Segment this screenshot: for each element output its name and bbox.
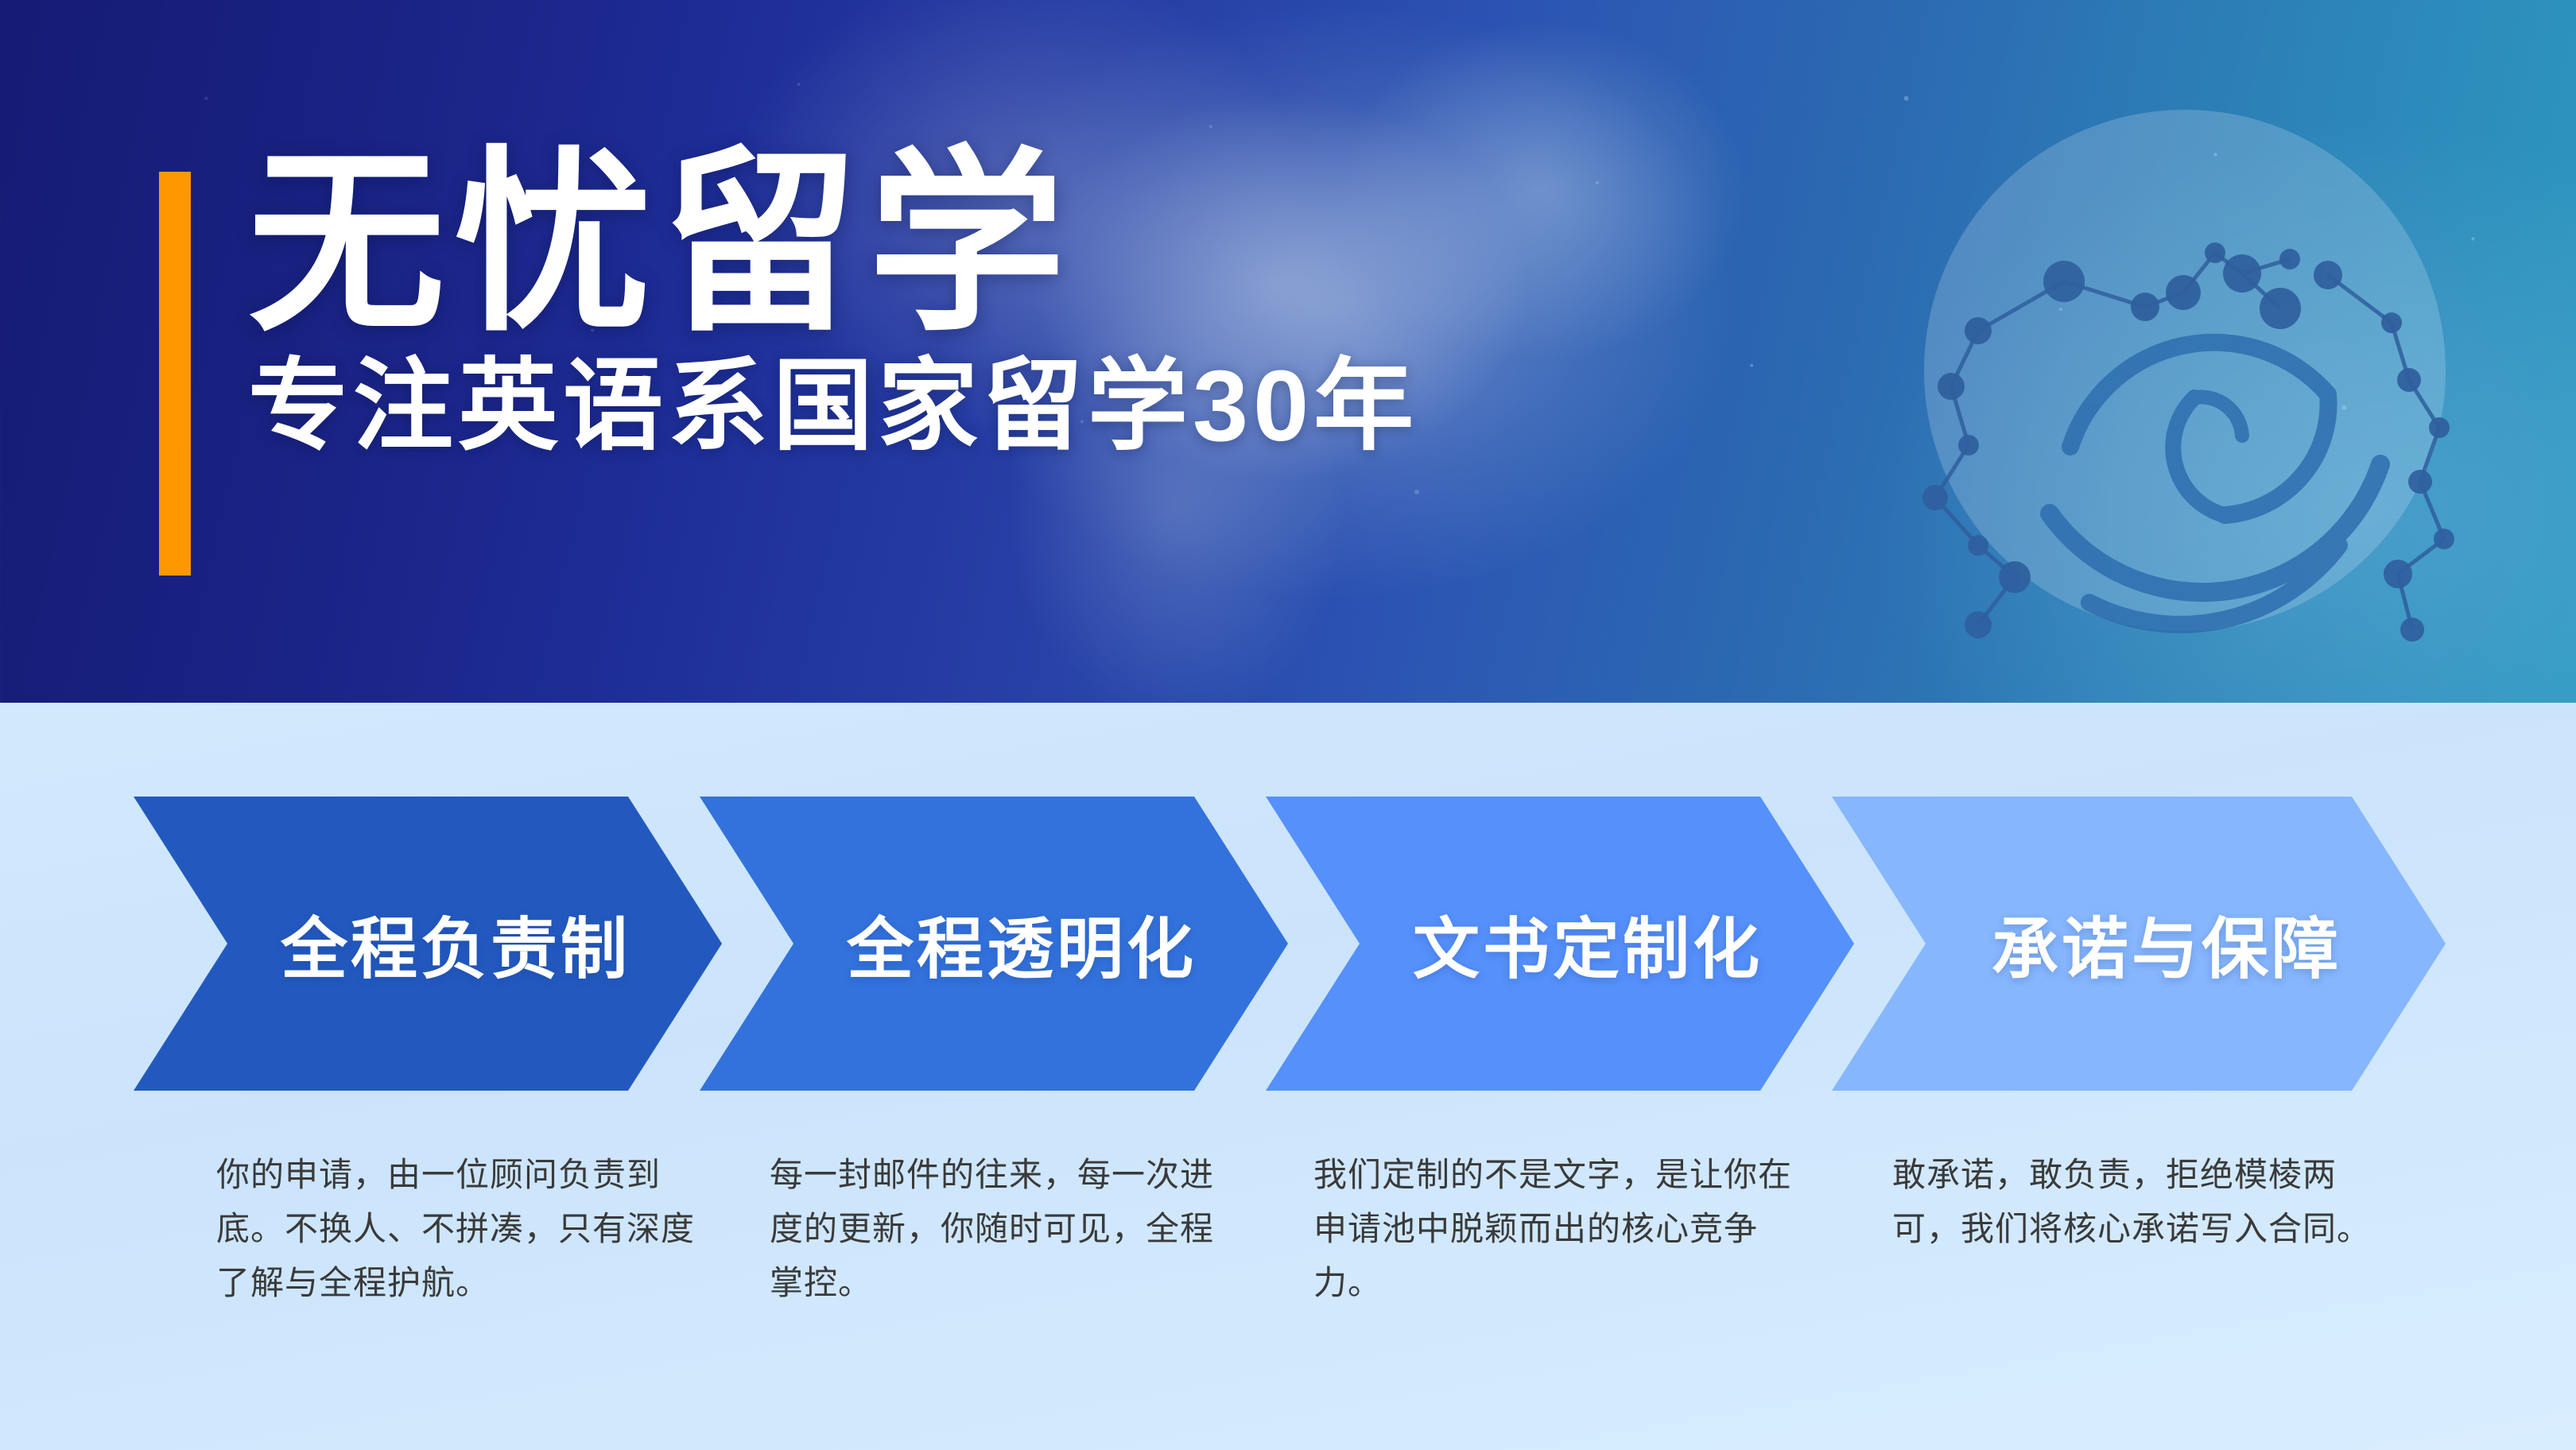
flow-step-4[interactable]: 承诺与保障 [1832, 797, 2446, 1091]
flow-step-2-label: 全程透明化 [847, 896, 1197, 992]
flow-step-2-description: 每一封邮件的往来，每一次进度的更新，你随时可见，全程掌控。 [770, 1148, 1247, 1310]
flow-step-1-label: 全程负责制 [281, 896, 630, 992]
poster-root: 无忧留学 专注英语系国家留学30年 全程负责制 全程透明化 文书定制化 承诺与保… [0, 0, 2576, 1450]
flow-step-3[interactable]: 文书定制化 [1266, 797, 1854, 1091]
network-spiral-circle-icon [1883, 68, 2487, 673]
flow-step-3-label: 文书定制化 [1413, 896, 1763, 992]
process-flow: 全程负责制 全程透明化 文书定制化 承诺与保障 [0, 797, 2576, 1091]
flow-step-1-description: 你的申请，由一位顾问负责到底。不换人、不拼凑，只有深度了解与全程护航。 [216, 1148, 709, 1310]
flow-step-4-label: 承诺与保障 [1992, 896, 2341, 992]
features-section: 全程负责制 全程透明化 文书定制化 承诺与保障 你的申请，由一位顾问负责到底。不… [0, 703, 2576, 1450]
flow-step-3-description: 我们定制的不是文字，是让你在申请池中脱颖而出的核心竞争力。 [1313, 1148, 1814, 1310]
title-accent-bar [159, 172, 191, 576]
page-title: 无忧留学 [248, 142, 1418, 347]
flow-step-1[interactable]: 全程负责制 [134, 797, 722, 1091]
hero-banner: 无忧留学 专注英语系国家留学30年 [0, 0, 2576, 703]
page-subtitle: 专注英语系国家留学30年 [248, 351, 1418, 462]
flow-step-2[interactable]: 全程透明化 [700, 797, 1288, 1091]
hero-text-block: 无忧留学 专注英语系国家留学30年 [248, 142, 1418, 462]
flow-step-4-description: 敢承诺，敢负责，拒绝模棱两可，我们将核心承诺写入合同。 [1892, 1148, 2377, 1256]
